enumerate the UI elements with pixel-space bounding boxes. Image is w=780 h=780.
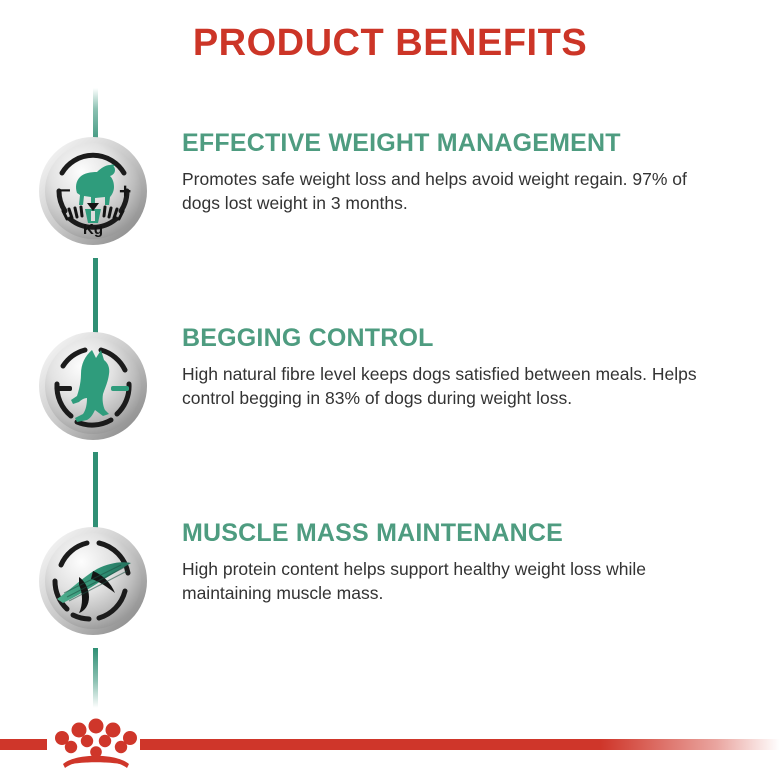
benefit-text-block: EFFECTIVE WEIGHT MANAGEMENT Promotes saf… xyxy=(182,130,742,216)
benefit-heading: MUSCLE MASS MAINTENANCE xyxy=(182,520,742,548)
begging-dog-icon xyxy=(37,330,149,442)
svg-text:−: − xyxy=(59,180,71,202)
connector-line-bottom xyxy=(93,648,98,708)
dog-on-weight-scale-icon: − + Kg xyxy=(37,135,149,247)
footer-bar-right xyxy=(140,739,780,750)
benefit-body: High natural fibre level keeps dogs sati… xyxy=(182,362,727,412)
benefit-body: Promotes safe weight loss and helps avoi… xyxy=(182,167,727,217)
svg-text:Kg: Kg xyxy=(83,221,103,238)
benefit-text-block: BEGGING CONTROL High natural fibre level… xyxy=(182,325,742,411)
svg-text:+: + xyxy=(119,180,131,203)
muscle-fibre-icon xyxy=(37,525,149,637)
benefit-heading: EFFECTIVE WEIGHT MANAGEMENT xyxy=(182,130,742,158)
royal-canin-crown-logo xyxy=(50,712,142,774)
benefit-text-block: MUSCLE MASS MAINTENANCE High protein con… xyxy=(182,520,742,606)
benefit-body: High protein content helps support healt… xyxy=(182,557,727,607)
benefit-heading: BEGGING CONTROL xyxy=(182,325,742,353)
footer-bar-left xyxy=(0,739,47,750)
page-title: PRODUCT BENEFITS xyxy=(0,22,780,65)
footer xyxy=(0,708,780,780)
product-benefits-page: PRODUCT BENEFITS xyxy=(0,0,780,780)
